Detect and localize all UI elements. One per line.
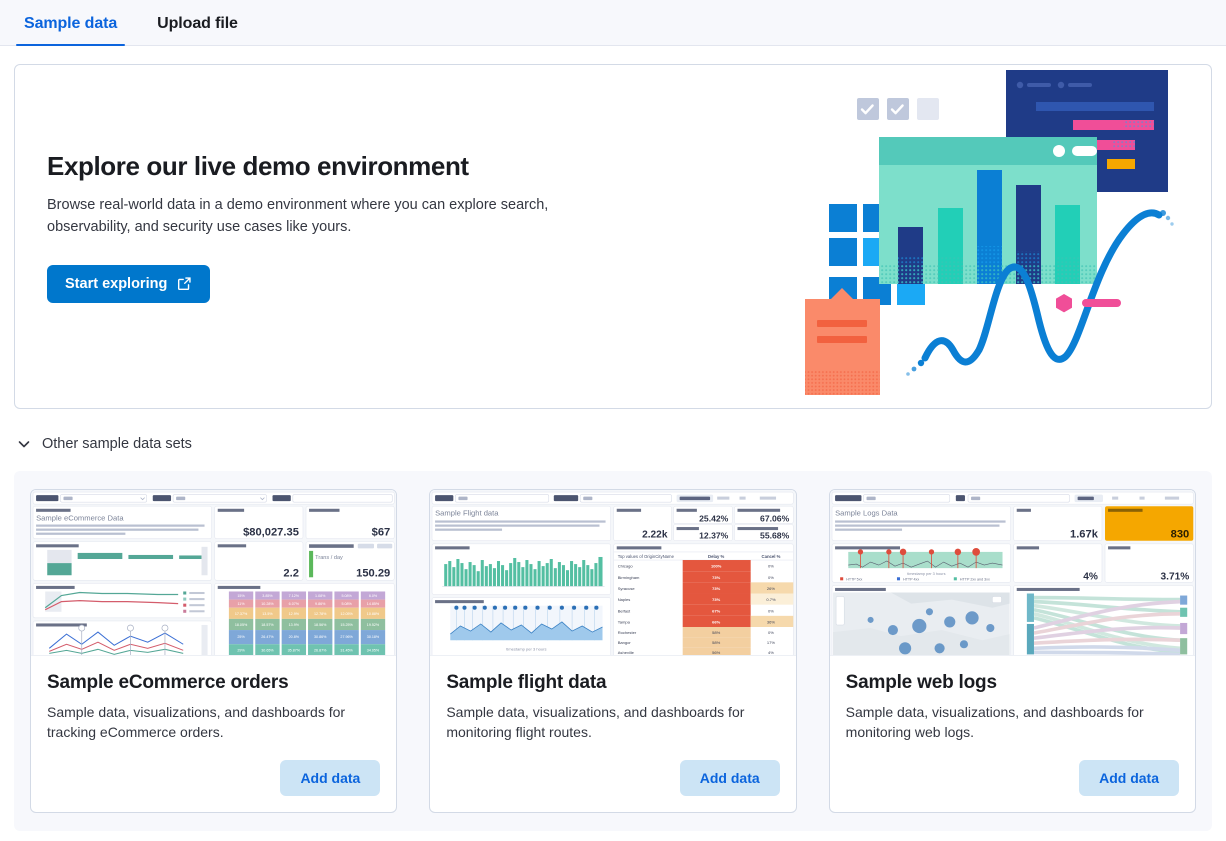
svg-text:5.08%: 5.08% xyxy=(341,594,352,598)
svg-text:13.9%: 13.9% xyxy=(289,623,300,627)
svg-text:13.5%: 13.5% xyxy=(262,612,273,616)
svg-text:Rochester: Rochester xyxy=(618,630,637,635)
svg-text:Sample eCommerce Data: Sample eCommerce Data xyxy=(36,513,124,522)
svg-text:35.87%: 35.87% xyxy=(288,648,301,652)
sample-data-card-flight[interactable]: Sample Flight data 2.22k 25.42% 67.06% xyxy=(429,489,796,813)
card-title: Sample flight data xyxy=(446,672,779,694)
card-footer: Add data xyxy=(31,760,396,812)
card-description: Sample data, visualizations, and dashboa… xyxy=(846,702,1179,743)
svg-text:19.52%: 19.52% xyxy=(367,623,380,627)
svg-text:HTTP 2xx and 3xx: HTTP 2xx and 3xx xyxy=(960,577,990,581)
svg-text:timestamp per 3 hours: timestamp per 3 hours xyxy=(507,646,547,651)
tab-upload-file-label: Upload file xyxy=(157,15,238,32)
svg-text:4%: 4% xyxy=(1083,571,1098,582)
tab-upload-file[interactable]: Upload file xyxy=(149,15,246,45)
svg-text:2.2: 2.2 xyxy=(283,567,299,579)
svg-text:0%: 0% xyxy=(768,564,774,569)
svg-text:18.05%: 18.05% xyxy=(235,623,248,627)
svg-text:Cancel %: Cancel % xyxy=(762,554,781,559)
svg-text:14.85%: 14.85% xyxy=(367,602,380,606)
svg-text:6.0%: 6.0% xyxy=(369,594,378,598)
card-body: Sample flight data Sample data, visualiz… xyxy=(430,656,795,760)
card-description: Sample data, visualizations, and dashboa… xyxy=(47,702,380,743)
svg-text:67.06%: 67.06% xyxy=(760,513,790,523)
card-footer: Add data xyxy=(830,760,1195,812)
data-analytics-illustration xyxy=(793,65,1193,409)
svg-text:9.86%: 9.86% xyxy=(315,602,326,606)
svg-text:17.37%: 17.37% xyxy=(235,612,248,616)
card-body: Sample eCommerce orders Sample data, vis… xyxy=(31,656,396,760)
card-title: Sample eCommerce orders xyxy=(47,672,380,694)
svg-text:36%: 36% xyxy=(767,619,776,624)
svg-text:30.18%: 30.18% xyxy=(367,635,380,639)
svg-text:Sample Logs Data: Sample Logs Data xyxy=(835,508,898,517)
page-title: Explore our live demo environment xyxy=(47,151,587,182)
svg-text:6.07%: 6.07% xyxy=(289,602,300,606)
svg-text:12.9%: 12.9% xyxy=(289,612,300,616)
other-sample-data-sets-accordion[interactable]: Other sample data sets xyxy=(16,431,1212,457)
svg-text:55.68%: 55.68% xyxy=(760,531,790,541)
card-title: Sample web logs xyxy=(846,672,1179,694)
svg-text:Top values of OriginCityName: Top values of OriginCityName xyxy=(618,554,675,559)
svg-text:15%: 15% xyxy=(237,594,245,598)
svg-text:Belfast: Belfast xyxy=(618,608,631,613)
accordion-label: Other sample data sets xyxy=(42,436,192,452)
svg-text:5.08%: 5.08% xyxy=(341,602,352,606)
svg-text:0%: 0% xyxy=(768,608,774,613)
svg-text:29%: 29% xyxy=(237,648,245,652)
svg-text:Chicago: Chicago xyxy=(618,564,634,569)
svg-text:HTTP 4xx: HTTP 4xx xyxy=(903,577,919,581)
svg-text:0.7%: 0.7% xyxy=(767,597,777,602)
svg-text:$80,027.35: $80,027.35 xyxy=(243,527,299,539)
svg-text:12.37%: 12.37% xyxy=(699,531,729,541)
svg-text:67%: 67% xyxy=(712,608,721,613)
svg-text:25%: 25% xyxy=(237,635,245,639)
svg-text:26.47%: 26.47% xyxy=(261,635,274,639)
svg-text:58%: 58% xyxy=(712,640,721,645)
svg-text:34.05%: 34.05% xyxy=(367,648,380,652)
svg-text:3.71%: 3.71% xyxy=(1160,571,1189,582)
svg-text:66%: 66% xyxy=(712,619,721,624)
svg-text:73%: 73% xyxy=(712,575,721,580)
svg-text:Naples: Naples xyxy=(618,597,631,602)
card-footer: Add data xyxy=(430,760,795,812)
svg-text:73%: 73% xyxy=(712,597,721,602)
svg-text:26.87%: 26.87% xyxy=(314,648,327,652)
sample-data-card-grid: Sample eCommerce Data $80,027.35 $67 xyxy=(14,471,1212,831)
svg-text:20.8%: 20.8% xyxy=(289,635,300,639)
hero-subtitle: Browse real-world data in a demo environ… xyxy=(47,194,567,239)
svg-text:Sample Flight data: Sample Flight data xyxy=(435,508,499,517)
svg-text:30.86%: 30.86% xyxy=(314,635,327,639)
start-exploring-label: Start exploring xyxy=(65,276,167,292)
svg-text:1.08%: 1.08% xyxy=(315,594,326,598)
chevron-down-icon xyxy=(16,436,32,452)
card-description: Sample data, visualizations, and dashboa… xyxy=(446,702,779,743)
flight-dashboard-thumbnail: Sample Flight data 2.22k 25.42% 67.06% xyxy=(430,490,795,656)
chart-dashboard-window xyxy=(879,137,1097,284)
svg-text:3.85%: 3.85% xyxy=(262,594,273,598)
svg-text:Syracuse: Syracuse xyxy=(618,586,636,591)
svg-text:1.67k: 1.67k xyxy=(1070,529,1099,541)
svg-text:4%: 4% xyxy=(768,650,774,655)
svg-text:830: 830 xyxy=(1170,529,1189,541)
tab-sample-data-label: Sample data xyxy=(24,15,117,32)
svg-text:56%: 56% xyxy=(712,650,721,655)
svg-text:Asheville: Asheville xyxy=(618,650,635,655)
svg-text:150.29: 150.29 xyxy=(356,567,390,579)
svg-text:timestamp per 3 hours: timestamp per 3 hours xyxy=(907,572,945,576)
svg-text:31.45%: 31.45% xyxy=(340,648,353,652)
start-exploring-button[interactable]: Start exploring xyxy=(47,265,210,303)
checkbox-group xyxy=(857,98,939,120)
external-link-icon xyxy=(177,276,192,291)
svg-text:Tampa: Tampa xyxy=(618,619,631,624)
svg-text:12.05%: 12.05% xyxy=(340,612,353,616)
svg-text:18.56%: 18.56% xyxy=(314,623,327,627)
svg-text:10.28%: 10.28% xyxy=(261,602,274,606)
tab-sample-data[interactable]: Sample data xyxy=(16,15,125,45)
svg-text:Bangor: Bangor xyxy=(618,640,632,645)
svg-text:0%: 0% xyxy=(768,630,774,635)
add-data-button-weblogs[interactable]: Add data xyxy=(1079,760,1179,796)
svg-text:2.22k: 2.22k xyxy=(642,530,668,541)
svg-text:17%: 17% xyxy=(767,640,776,645)
svg-text:25.42%: 25.42% xyxy=(699,513,729,523)
svg-text:Trans / day: Trans / day xyxy=(315,555,343,561)
svg-text:10.88%: 10.88% xyxy=(367,612,380,616)
svg-text:11%: 11% xyxy=(238,602,246,606)
sample-data-card-ecommerce[interactable]: Sample eCommerce Data $80,027.35 $67 xyxy=(30,489,397,813)
note-card xyxy=(805,288,880,395)
add-data-button-flight[interactable]: Add data xyxy=(680,760,780,796)
svg-text:$67: $67 xyxy=(372,527,391,539)
svg-text:0%: 0% xyxy=(768,575,774,580)
svg-text:27.96%: 27.96% xyxy=(340,635,353,639)
svg-text:26%: 26% xyxy=(767,586,776,591)
tab-bar: Sample data Upload file xyxy=(0,0,1226,46)
card-body: Sample web logs Sample data, visualizati… xyxy=(830,656,1195,760)
svg-text:18.57%: 18.57% xyxy=(261,623,274,627)
add-data-button-ecommerce[interactable]: Add data xyxy=(280,760,380,796)
svg-text:58%: 58% xyxy=(712,630,721,635)
svg-text:100%: 100% xyxy=(711,564,722,569)
svg-text:7.12%: 7.12% xyxy=(289,594,300,598)
svg-text:Birmingham: Birmingham xyxy=(618,575,640,580)
svg-text:73%: 73% xyxy=(712,586,721,591)
svg-text:15.25%: 15.25% xyxy=(340,623,353,627)
svg-text:Delay %: Delay % xyxy=(708,554,725,559)
svg-text:12.78%: 12.78% xyxy=(314,612,327,616)
demo-environment-panel: Explore our live demo environment Browse… xyxy=(14,64,1212,409)
sample-data-card-weblogs[interactable]: Sample Logs Data 1.67k 830 xyxy=(829,489,1196,813)
hero-text-block: Explore our live demo environment Browse… xyxy=(47,151,587,303)
weblogs-dashboard-thumbnail: Sample Logs Data 1.67k 830 xyxy=(830,490,1195,656)
svg-text:HTTP 5xx: HTTP 5xx xyxy=(846,577,862,581)
svg-text:30.65%: 30.65% xyxy=(261,648,274,652)
ecommerce-dashboard-thumbnail: Sample eCommerce Data $80,027.35 $67 xyxy=(31,490,396,656)
